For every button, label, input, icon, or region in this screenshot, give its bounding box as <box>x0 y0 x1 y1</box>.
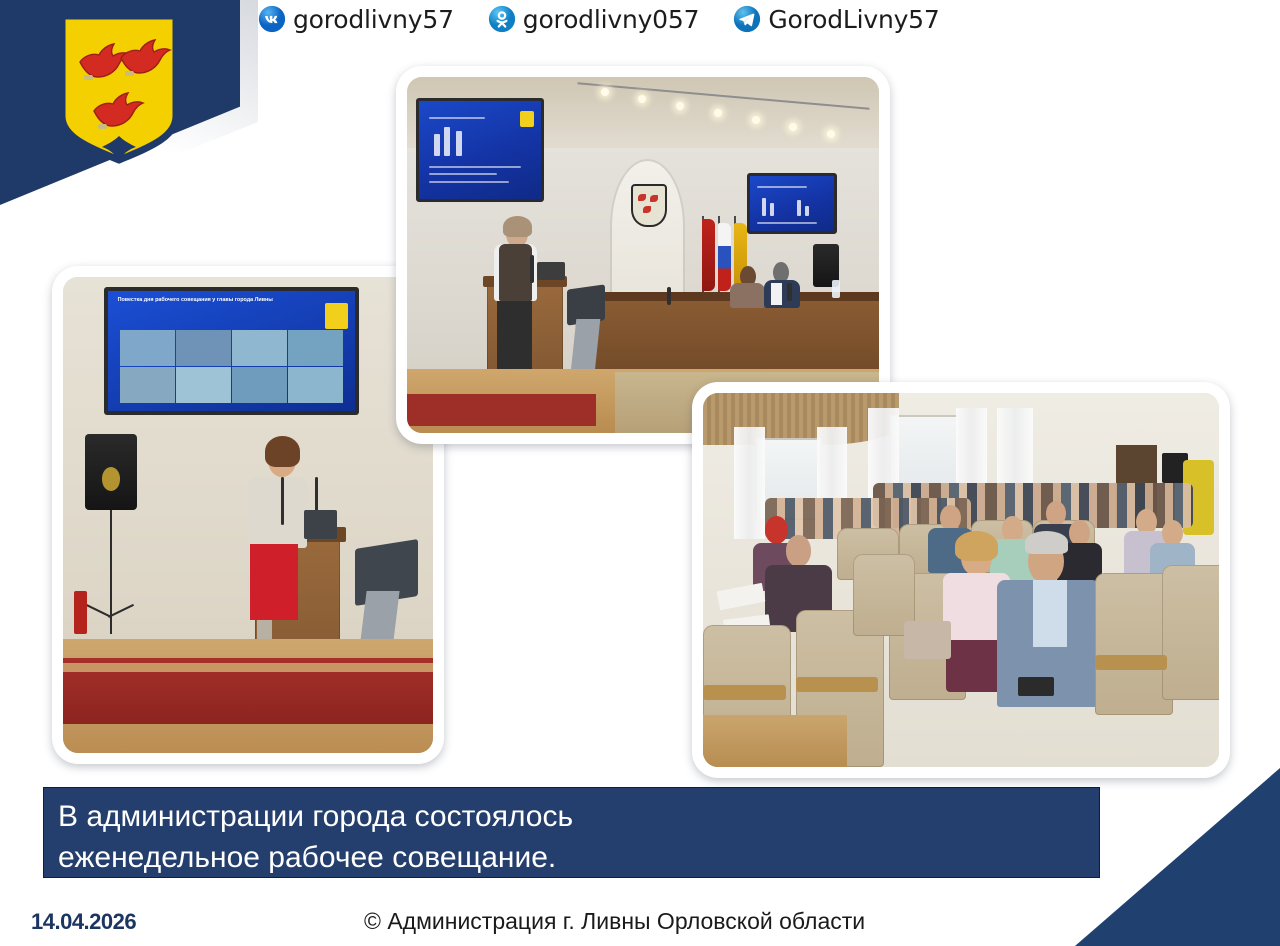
photo-inner <box>703 393 1219 767</box>
publication-date: 14.04.2026 <box>31 909 136 935</box>
photo-inner: Повестка дня рабочего совещания у главы … <box>63 277 433 753</box>
ok-icon <box>488 5 516 33</box>
social-link-telegram[interactable]: GorodLivny57 <box>733 5 939 33</box>
social-handle-label: gorodlivny57 <box>293 7 454 32</box>
poster-root: gorodlivny57 gorodlivny057 <box>0 0 1280 946</box>
photo-speaker-at-podium[interactable]: Повестка дня рабочего совещания у главы … <box>52 266 444 764</box>
social-link-ok[interactable]: gorodlivny057 <box>488 5 700 33</box>
vk-icon <box>258 5 286 33</box>
caption-line-2: еженедельное рабочее совещание. <box>58 837 1099 878</box>
social-link-vk[interactable]: gorodlivny57 <box>258 5 454 33</box>
social-handles-bar: gorodlivny57 gorodlivny057 <box>258 0 940 38</box>
bottom-right-corner-banner <box>1075 768 1280 946</box>
screen-agenda-title: Повестка дня рабочего совещания у главы … <box>118 297 296 304</box>
social-handle-label: gorodlivny057 <box>523 7 700 32</box>
copyright-notice: © Администрация г. Ливны Орловской облас… <box>364 908 865 935</box>
caption-banner: В администрации города состоялось еженед… <box>43 787 1100 878</box>
photo-audience-seated[interactable] <box>692 382 1230 778</box>
photo-inner <box>407 77 879 433</box>
telegram-icon <box>733 5 761 33</box>
coat-of-arms-emblem <box>58 12 180 164</box>
caption-line-1: В администрации города состоялось <box>58 796 1099 837</box>
social-handle-label: GorodLivny57 <box>768 7 939 32</box>
